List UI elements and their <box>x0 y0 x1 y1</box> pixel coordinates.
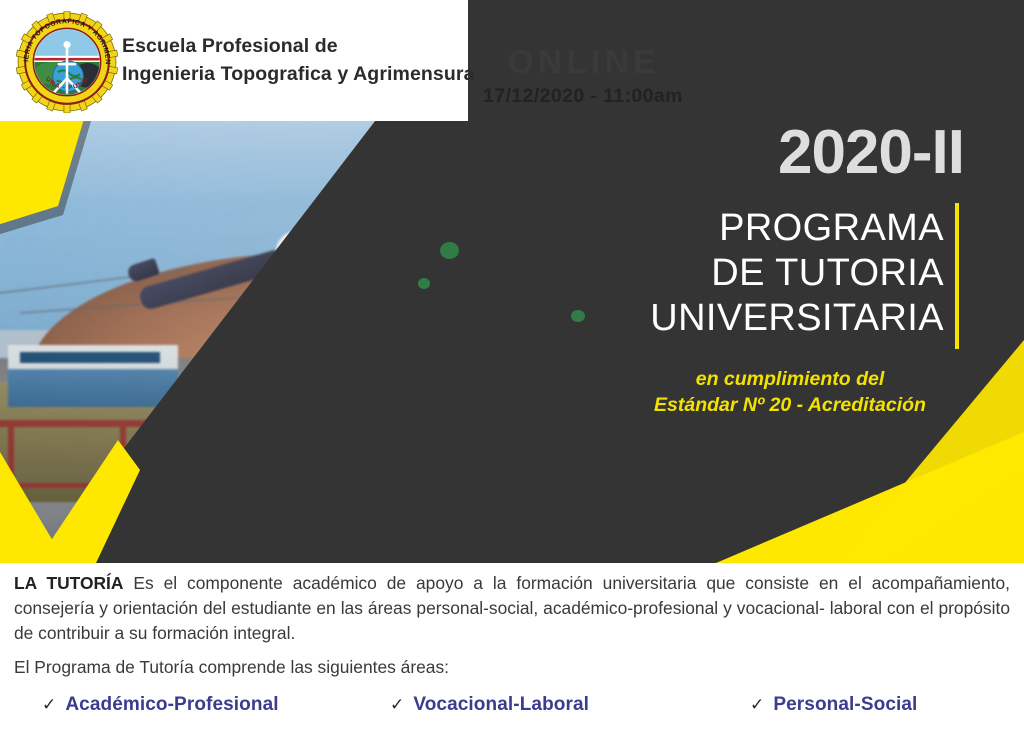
body-paragraph: LA TUTORÍA Es el componente académico de… <box>14 571 1010 647</box>
check-icon: ✓ <box>42 695 56 715</box>
area-item-academico-profesional: ✓ Académico-Profesional <box>14 694 390 716</box>
program-title-line1: PROGRAMA <box>624 206 944 251</box>
areas-list: ✓ Académico-Profesional ✓ Vocacional-Lab… <box>14 694 1010 716</box>
body-lead-bold: LA TUTORÍA <box>14 573 123 593</box>
subtitle-line1: en cumplimiento del <box>620 366 960 392</box>
area-item-personal-social: ✓ Personal-Social <box>750 694 917 716</box>
areas-lead-text: El Programa de Tutoría comprende las sig… <box>14 657 449 678</box>
title-accent-rule <box>955 203 959 349</box>
online-label: ONLINE <box>508 43 660 81</box>
area-item-vocacional-laboral: ✓ Vocacional-Laboral <box>390 694 750 716</box>
poster-root: INGENIERIA TOPOGRAFICA Y AGRIMENSURA UNA… <box>0 0 1024 735</box>
term-year: 2020-II <box>778 122 964 184</box>
program-subtitle: en cumplimiento del Estándar Nº 20 - Acr… <box>620 366 960 418</box>
check-icon: ✓ <box>390 695 404 715</box>
check-icon: ✓ <box>750 695 764 715</box>
subtitle-line2: Estándar Nº 20 - Acreditación <box>620 392 960 418</box>
gear-seal-logo: INGENIERIA TOPOGRAFICA Y AGRIMENSURA UNA… <box>16 11 118 113</box>
program-title-line3: UNIVERSITARIA <box>624 296 944 341</box>
hero-photo-region: INGENIERIA TOPOGRAFICA Y AGRIMENSURA UNA… <box>0 0 1024 563</box>
program-title-line2: DE TUTORIA <box>624 251 944 296</box>
school-name: Escuela Profesional de Ingenieria Topogr… <box>122 33 475 88</box>
event-datetime: 17/12/2020 - 11:00am <box>483 85 683 108</box>
school-name-line1: Escuela Profesional de <box>122 33 475 61</box>
school-name-line2: Ingenieria Topografica y Agrimensura <box>122 61 475 89</box>
area-label: Vocacional-Laboral <box>413 694 589 716</box>
body-paragraph-text: Es el componente académico de apoyo a la… <box>14 573 1010 643</box>
area-label: Personal-Social <box>773 694 917 716</box>
program-title: PROGRAMA DE TUTORIA UNIVERSITARIA <box>624 206 944 340</box>
area-label: Académico-Profesional <box>65 694 278 716</box>
